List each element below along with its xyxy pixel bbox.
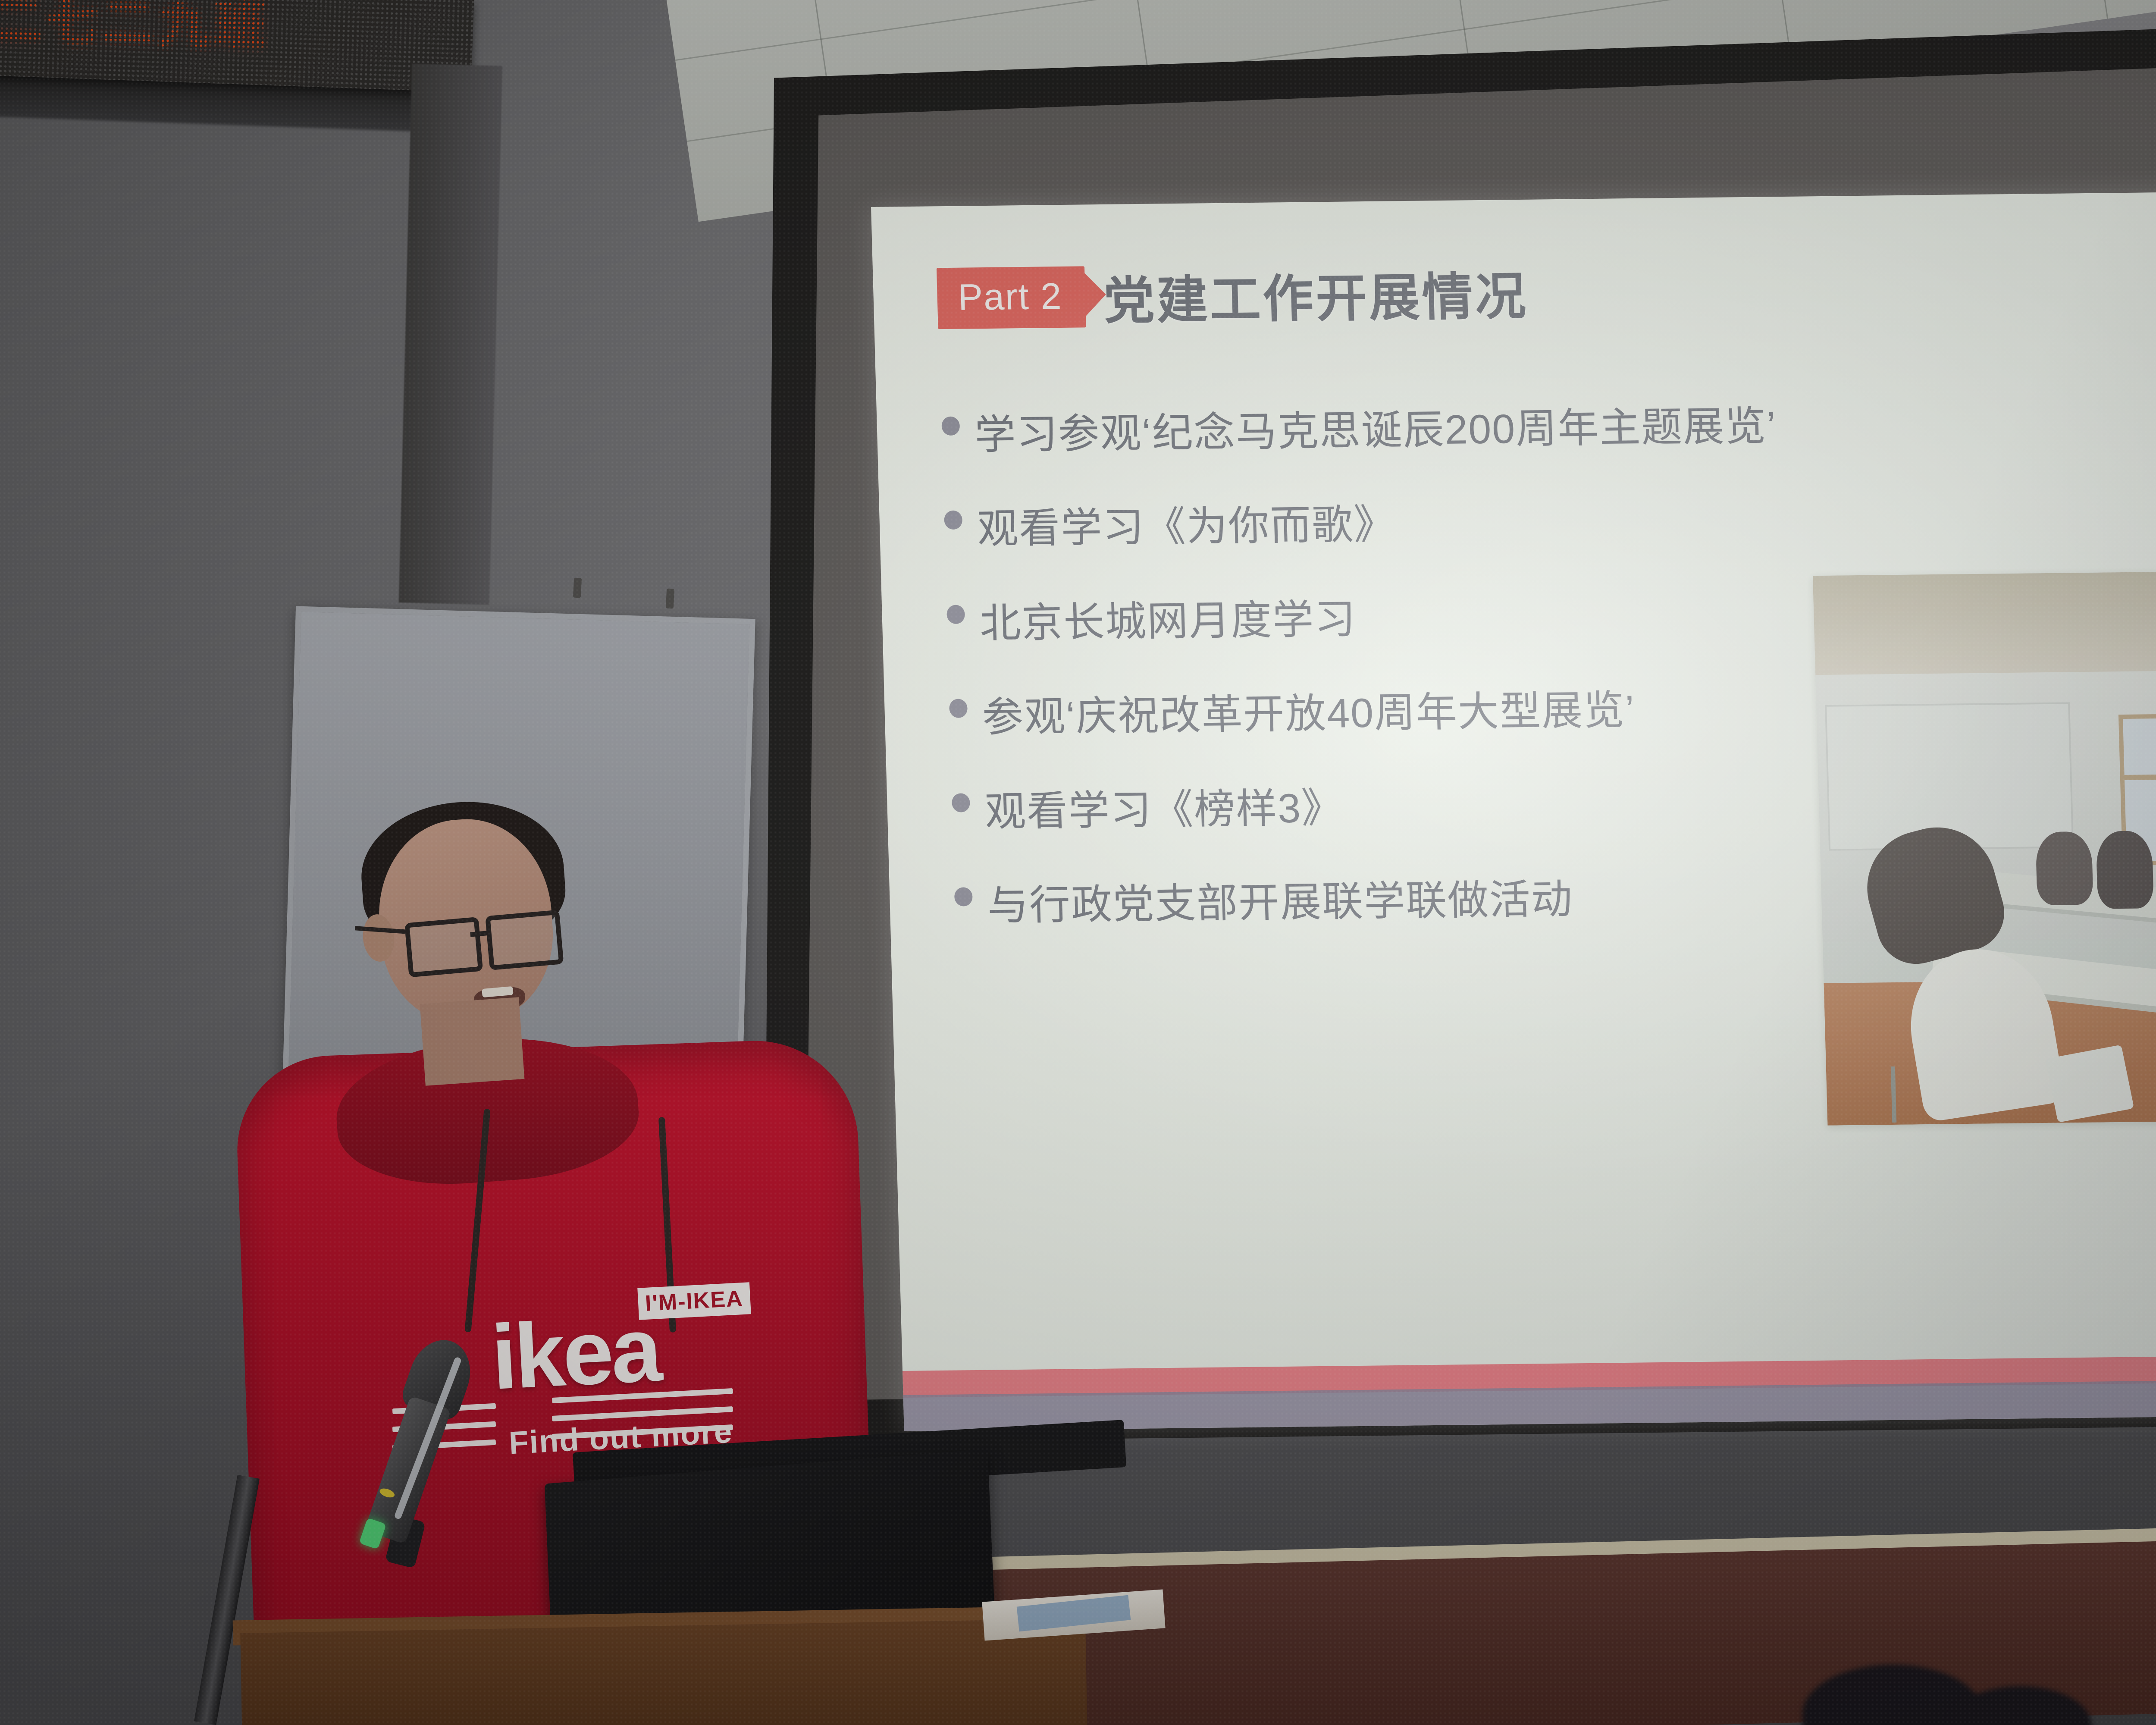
photo-scene: 二七二九班 Part 2 党建工作开展情况 学习参观‘纪念马克思诞辰200周年主… [0, 0, 2156, 1725]
list-item-label: 参观‘庆祝改革开放40周年大型展览’ [981, 679, 1636, 749]
list-item-label: 观看学习《为你而歌》 [976, 494, 1396, 561]
slide-bullet-list: 学习参观‘纪念马克思诞辰200周年主题展览’ 观看学习《为你而歌》 北京长城网月… [941, 394, 1896, 969]
part-badge: Part 2 [937, 266, 1086, 329]
bullet-dot-icon [949, 699, 968, 718]
list-item: 参观‘庆祝改革开放40周年大型展览’ [949, 676, 1890, 749]
list-item: 学习参观‘纪念马克思诞辰200周年主题展览’ [941, 394, 1883, 467]
projected-slide: Part 2 党建工作开展情况 学习参观‘纪念马克思诞辰200周年主题展览’ 观… [871, 188, 2156, 1431]
list-item: 与行政党支部开展联学联做活动 [954, 865, 1896, 938]
list-item: 观看学习《榜样3》 [951, 771, 1893, 844]
slide-title-row: Part 2 党建工作开展情况 [936, 255, 1529, 335]
podium [240, 1618, 1087, 1725]
list-item: 北京长城网月度学习 [946, 582, 1888, 655]
hoodie-brand-logo: ikea [489, 1307, 661, 1399]
neck [420, 997, 525, 1086]
bullet-dot-icon [952, 793, 970, 812]
bullet-dot-icon [946, 605, 965, 624]
bullet-dot-icon [941, 417, 960, 436]
slide-photo [1813, 569, 2156, 1126]
whiteboard-hook [573, 578, 582, 598]
microphone-power-led [359, 1518, 386, 1549]
list-item-label: 北京长城网月度学习 [979, 588, 1357, 655]
bullet-dot-icon [944, 511, 962, 530]
list-item: 观看学习《为你而歌》 [943, 488, 1885, 561]
whiteboard-hook [666, 589, 674, 609]
list-item-label: 观看学习《榜样3》 [984, 777, 1344, 843]
wall-pillar [399, 64, 502, 605]
list-item-label: 学习参观‘纪念马克思诞辰200周年主题展览’ [974, 394, 1881, 466]
led-sign-text: 二七二九班 [0, 0, 271, 58]
bullet-dot-icon [954, 887, 973, 906]
list-item-label: 与行政党支部开展联学联做活动 [987, 868, 1574, 937]
page-title: 党建工作开展情况 [1103, 255, 1529, 333]
